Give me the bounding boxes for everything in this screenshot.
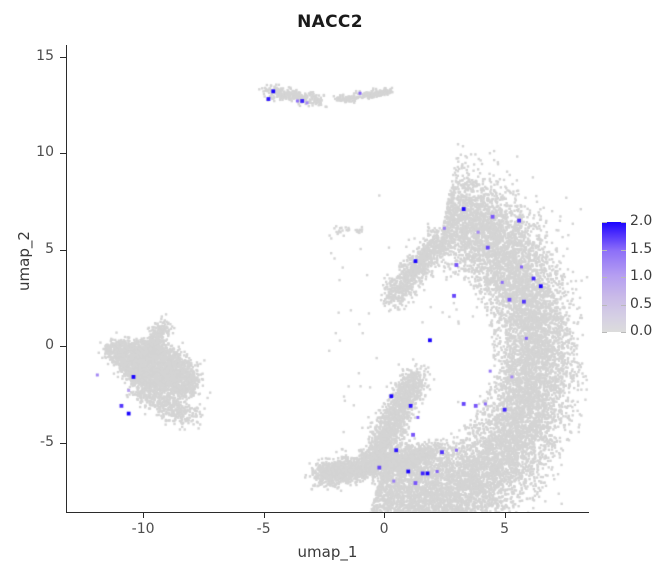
y-axis-label: umap_2 [15, 141, 33, 381]
x-axis-label: umap_1 [66, 543, 589, 561]
x-tick [143, 512, 144, 518]
y-tick-label: -5 [10, 434, 54, 450]
colorbar-tick [621, 305, 626, 306]
x-tick-label: -10 [120, 521, 166, 537]
colorbar-tick-label: 1.5 [630, 241, 670, 257]
colorbar-tick [602, 332, 607, 333]
scatter-plot-area [66, 45, 589, 512]
y-tick [60, 250, 66, 251]
colorbar-tick [602, 305, 607, 306]
colorbar-tick [621, 277, 626, 278]
colorbar-tick [602, 250, 607, 251]
colorbar-tick-label: 1.0 [630, 268, 670, 284]
y-tick [60, 153, 66, 154]
colorbar-tick [602, 277, 607, 278]
page-title: NACC2 [0, 12, 660, 32]
x-tick [264, 512, 265, 518]
y-tick-label: 15 [10, 48, 54, 64]
x-tick-label: 0 [361, 521, 407, 537]
x-tick-label: 5 [482, 521, 528, 537]
x-axis-line [66, 512, 589, 513]
colorbar-tick [602, 222, 607, 223]
y-tick [60, 443, 66, 444]
colorbar-tick-label: 2.0 [630, 213, 670, 229]
x-tick [505, 512, 506, 518]
colorbar-tick [621, 250, 626, 251]
colorbar-tick [621, 222, 626, 223]
y-tick [60, 346, 66, 347]
umap-feature-plot: NACC2 -5051015 -10-505 umap_1 umap_2 0.0… [0, 0, 672, 576]
colorbar-tick-label: 0.5 [630, 296, 670, 312]
colorbar-tick-label: 0.0 [630, 323, 670, 339]
x-tick [384, 512, 385, 518]
scatter-points-canvas [66, 45, 589, 512]
y-axis-line [66, 45, 67, 513]
colorbar-tick [621, 332, 626, 333]
y-tick [60, 57, 66, 58]
x-tick-label: -5 [241, 521, 287, 537]
